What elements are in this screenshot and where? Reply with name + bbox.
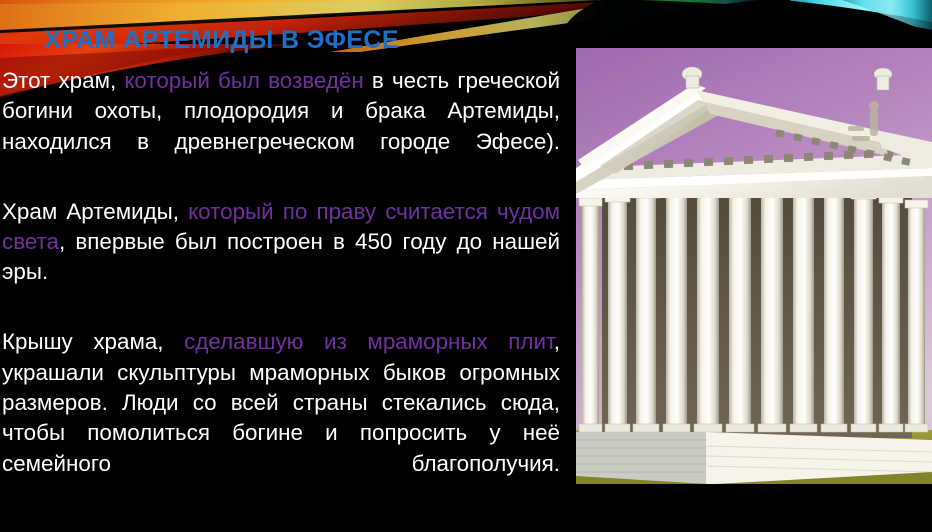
presentation-slide: ХРАМ АРТЕМИДЫ В ЭФЕСЕ Этот храм, который… — [0, 0, 932, 532]
run-text: Этот храм, — [2, 68, 124, 93]
temple-of-artemis-photo — [576, 48, 932, 484]
run-text: Храм Артемиды, — [2, 199, 188, 224]
paragraph-1: Этот храм, который был возведён в честь … — [2, 66, 560, 188]
body-text-column: Этот храм, который был возведён в честь … — [2, 66, 560, 510]
run-highlight: который был возведён — [124, 68, 363, 93]
run-highlight: сделавшую из мраморных плит — [184, 329, 554, 354]
run-text: , впервые был построен в 450 году до наш… — [2, 229, 560, 284]
run-text: Крышу храма, — [2, 329, 184, 354]
paragraph-2: Храм Артемиды, который по праву считаетс… — [2, 197, 560, 319]
page-title: ХРАМ АРТЕМИДЫ В ЭФЕСЕ — [44, 27, 564, 53]
paragraph-3: Крышу храма, сделавшую из мраморных плит… — [2, 327, 560, 509]
